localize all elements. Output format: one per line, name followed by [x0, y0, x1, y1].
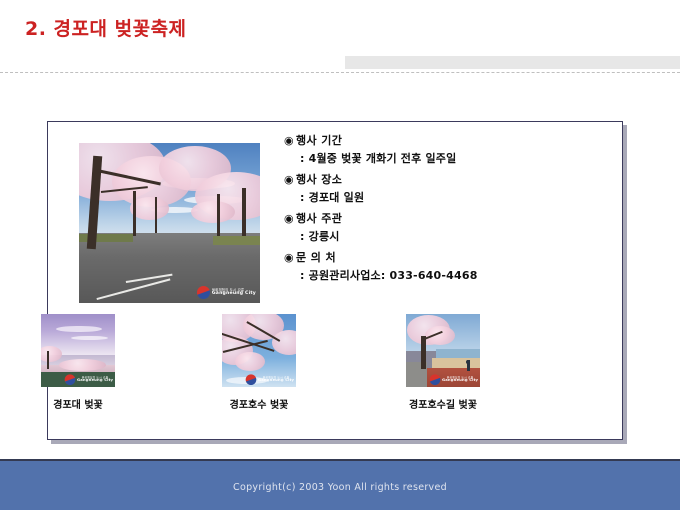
blossom-canopy: [191, 201, 234, 223]
gangneung-city-watermark: 문화체험의 도시 강릉 Gangneung City: [64, 374, 113, 385]
info-item-value: : 경포대 일원: [284, 192, 604, 203]
roadside-grass: [213, 236, 260, 246]
tree-trunk: [217, 194, 220, 236]
hero-photo[interactable]: 문화체험의 도시 강릉 Gangneung City: [79, 143, 260, 303]
festival-info-list: ◉행사 기간 : 4월중 벚꽃 개화기 전후 일주일 ◉행사 장소 : 경포대 …: [284, 135, 604, 281]
thumbnail-cell: 문화체험의 도시 강릉 Gangneung City 경포대 벚꽃: [18, 314, 138, 411]
thumbnail-image-3[interactable]: 문화체험의 도시 강릉 Gangneung City: [406, 314, 480, 387]
info-item-value: : 공원관리사업소: 033-640-4468: [284, 270, 604, 281]
taegeuk-icon: [429, 374, 440, 385]
gangneung-city-watermark: 문화체험의 도시 강릉 Gangneung City: [197, 286, 256, 299]
info-item-label: 행사 기간: [296, 134, 342, 147]
thumbnail-cell: 문화체험의 도시 강릉 Gangneung City 경포호수 벚꽃: [199, 314, 319, 411]
info-item-heading: ◉행사 기간: [284, 135, 604, 146]
blossom-canopy: [235, 352, 265, 371]
page-title: 2. 경포대 벚꽃축제: [25, 14, 187, 41]
thumbnail-image-2[interactable]: 문화체험의 도시 강릉 Gangneung City: [222, 314, 296, 387]
info-item-heading: ◉문 의 처: [284, 252, 604, 263]
content-panel: 문화체험의 도시 강릉 Gangneung City ◉행사 기간 : 4월중 …: [47, 121, 623, 440]
bullet-icon: ◉: [284, 173, 294, 186]
info-item-label: 행사 장소: [296, 173, 342, 186]
watermark-english-text: Gangneung City: [212, 292, 256, 297]
watermark-english-text: Gangneung City: [77, 379, 113, 383]
thumbnail-caption: 경포대 벚꽃: [18, 396, 138, 411]
blossom-canopy: [59, 359, 106, 371]
bullet-icon: ◉: [284, 134, 294, 147]
tree-trunk: [47, 351, 49, 370]
gangneung-city-watermark: 문화체험의 도시 강릉 Gangneung City: [429, 374, 478, 385]
thumbnail-row: 문화체험의 도시 강릉 Gangneung City 경포대 벚꽃: [48, 314, 624, 434]
tree-trunk: [242, 188, 246, 236]
info-item-heading: ◉행사 장소: [284, 174, 604, 185]
cloud-shape: [56, 326, 102, 333]
header-divider: [0, 72, 680, 73]
bullet-icon: ◉: [284, 251, 294, 264]
thumbnail-cell: 문화체험의 도시 강릉 Gangneung City 경포호수길 벚꽃: [383, 314, 503, 411]
tree-trunk: [155, 197, 157, 232]
taegeuk-icon: [64, 374, 75, 385]
watermark-english-text: Gangneung City: [442, 379, 478, 383]
info-item-value: : 4월중 벚꽃 개화기 전후 일주일: [284, 153, 604, 164]
taegeuk-icon: [245, 374, 256, 385]
thumbnail-caption: 경포호수길 벚꽃: [383, 396, 503, 411]
watermark-english-text: Gangneung City: [258, 379, 294, 383]
taegeuk-icon: [197, 286, 210, 299]
bullet-icon: ◉: [284, 212, 294, 225]
header-accent-band: [345, 56, 680, 69]
info-item-heading: ◉행사 주관: [284, 213, 604, 224]
gangneung-city-watermark: 문화체험의 도시 강릉 Gangneung City: [245, 374, 294, 385]
info-item-label: 문 의 처: [296, 251, 336, 264]
thumbnail-image-1[interactable]: 문화체험의 도시 강릉 Gangneung City: [41, 314, 115, 387]
tree-trunk: [133, 191, 136, 236]
info-item-value: : 강릉시: [284, 231, 604, 242]
blossom-canopy: [272, 330, 296, 355]
copyright-text: Copyright(c) 2003 Yoon All rights reserv…: [0, 482, 680, 493]
footer-bar: Copyright(c) 2003 Yoon All rights reserv…: [0, 459, 680, 510]
thumbnail-caption: 경포호수 벚꽃: [199, 396, 319, 411]
info-item-label: 행사 주관: [296, 212, 342, 225]
